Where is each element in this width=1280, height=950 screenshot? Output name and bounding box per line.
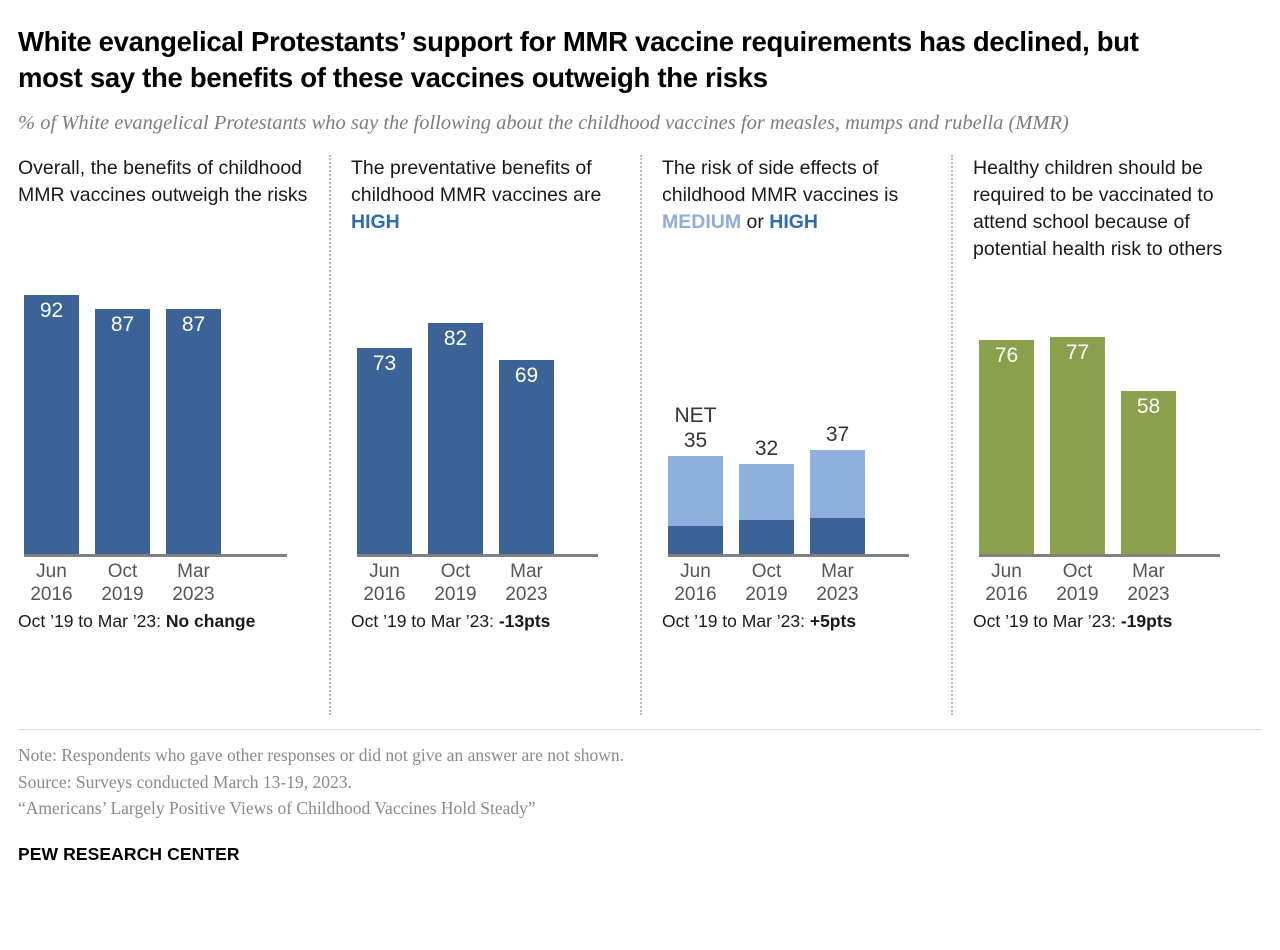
bar-value-label: 92	[24, 299, 79, 323]
bar-group[interactable]: 87	[166, 275, 221, 554]
note-line: Note: Respondents who gave other respons…	[18, 742, 1262, 769]
tick-label: Jun2016	[668, 557, 723, 605]
tick-year: 2016	[668, 584, 723, 606]
report-line: “Americans’ Largely Positive Views of Ch…	[18, 795, 1262, 822]
bar-value-label: 77	[1050, 341, 1105, 365]
tick-label: Oct2019	[428, 557, 483, 605]
tick-year: 2019	[739, 584, 794, 606]
panel-divider	[640, 155, 642, 715]
tick-year: 2016	[357, 584, 412, 606]
bar-group[interactable]: 37	[810, 275, 865, 554]
tick-month: Oct	[428, 561, 483, 583]
keyword-medium: MEDIUM	[662, 211, 741, 233]
tick-month: Mar	[1121, 561, 1176, 583]
bar-group[interactable]: 73	[357, 275, 412, 554]
plot-area: 928787Jun2016Oct2019Mar2023	[18, 275, 313, 605]
panel-heading: Overall, the benefits of childhood MMR v…	[18, 155, 313, 267]
pew-research-center-logo: PEW RESEARCH CENTER	[18, 844, 1262, 865]
bars-container: 928787	[24, 275, 287, 554]
change-prefix: Oct ’19 to Mar ’23:	[973, 611, 1121, 631]
bar-segment-medium[interactable]	[668, 456, 723, 527]
bar[interactable]: 58	[1121, 391, 1176, 555]
change-prefix: Oct ’19 to Mar ’23:	[18, 611, 166, 631]
bar-value-label: 37	[810, 423, 865, 450]
heading-text: or	[741, 211, 769, 233]
bars-container: 767758	[979, 275, 1220, 554]
panel-risk-side-effects-medium-or-high: The risk of side effects of childhood MM…	[640, 155, 951, 715]
tick-year: 2016	[979, 584, 1034, 606]
footer-divider	[18, 729, 1262, 730]
tick-label: Jun2016	[24, 557, 79, 605]
bar-segment-high[interactable]	[739, 520, 794, 554]
change-value: +5pts	[810, 611, 856, 631]
tick-year: 2023	[1121, 584, 1176, 606]
change-prefix: Oct ’19 to Mar ’23:	[662, 611, 810, 631]
bar[interactable]: 69	[499, 360, 554, 555]
tick-month: Jun	[668, 561, 723, 583]
plot-area: 767758Jun2016Oct2019Mar2023	[973, 275, 1246, 605]
change-summary: Oct ’19 to Mar ’23: -19pts	[973, 611, 1246, 632]
x-axis-ticks: Jun2016Oct2019Mar2023	[357, 557, 598, 605]
tick-month: Oct	[739, 561, 794, 583]
bar[interactable]: 87	[95, 309, 150, 554]
keyword-high: HIGH	[769, 211, 818, 233]
bar[interactable]: 82	[428, 323, 483, 554]
tick-month: Mar	[810, 561, 865, 583]
tick-month: Oct	[1050, 561, 1105, 583]
plot-area: 35NET3237Jun2016Oct2019Mar2023	[662, 275, 935, 605]
chart-subtitle: % of White evangelical Protestants who s…	[18, 110, 1233, 138]
tick-year: 2019	[428, 584, 483, 606]
tick-label: Mar2023	[1121, 557, 1176, 605]
panel-divider	[951, 155, 953, 715]
panel-divider	[329, 155, 331, 715]
heading-text: The preventative benefits of childhood M…	[351, 157, 601, 206]
heading-text: Healthy children should be required to b…	[973, 157, 1222, 260]
tick-label: Jun2016	[357, 557, 412, 605]
x-axis-ticks: Jun2016Oct2019Mar2023	[24, 557, 287, 605]
plot-area: 738269Jun2016Oct2019Mar2023	[351, 275, 624, 605]
panel-heading: The preventative benefits of childhood M…	[351, 155, 624, 267]
tick-month: Jun	[357, 561, 412, 583]
tick-label: Oct2019	[739, 557, 794, 605]
bar-value-label: 69	[499, 364, 554, 388]
bar-group[interactable]: 82	[428, 275, 483, 554]
chart-page: White evangelical Protestants’ support f…	[0, 0, 1280, 950]
bar-value-label: 32	[739, 437, 794, 464]
bar-segment-high[interactable]	[810, 518, 865, 555]
x-axis-ticks: Jun2016Oct2019Mar2023	[979, 557, 1220, 605]
bar[interactable]: 76	[979, 340, 1034, 554]
panel-heading: The risk of side effects of childhood MM…	[662, 155, 935, 267]
tick-month: Mar	[499, 561, 554, 583]
keyword-high: HIGH	[351, 211, 400, 233]
bar[interactable]: 92	[24, 295, 79, 554]
panel-container: Overall, the benefits of childhood MMR v…	[18, 155, 1262, 715]
tick-year: 2023	[499, 584, 554, 606]
bar-value-label: 73	[357, 352, 412, 376]
bar[interactable]: 73	[357, 348, 412, 554]
change-value: -19pts	[1121, 611, 1173, 631]
panel-preventative-benefits-high: The preventative benefits of childhood M…	[329, 155, 640, 715]
tick-year: 2023	[810, 584, 865, 606]
page-title: White evangelical Protestants’ support f…	[18, 0, 1168, 97]
bar[interactable]: 77	[1050, 337, 1105, 554]
tick-label: Oct2019	[1050, 557, 1105, 605]
bar-segment-medium[interactable]	[739, 464, 794, 520]
panel-required-vaccination-for-school: Healthy children should be required to b…	[951, 155, 1262, 715]
tick-year: 2023	[166, 584, 221, 606]
change-value: No change	[166, 611, 255, 631]
tick-label: Mar2023	[810, 557, 865, 605]
change-prefix: Oct ’19 to Mar ’23:	[351, 611, 499, 631]
bar-group[interactable]: 92	[24, 275, 79, 554]
footer-notes: Note: Respondents who gave other respons…	[18, 742, 1262, 822]
tick-label: Mar2023	[166, 557, 221, 605]
tick-month: Oct	[95, 561, 150, 583]
tick-month: Jun	[979, 561, 1034, 583]
change-value: -13pts	[499, 611, 551, 631]
bar-group[interactable]: 58	[1121, 275, 1176, 554]
change-summary: Oct ’19 to Mar ’23: +5pts	[662, 611, 935, 632]
tick-label: Oct2019	[95, 557, 150, 605]
bar-value-label: 58	[1121, 395, 1176, 419]
bars-container: 35NET3237	[668, 275, 909, 554]
bar-value-label: 82	[428, 327, 483, 351]
bar-value-label: 87	[95, 313, 150, 337]
bar[interactable]: 87	[166, 309, 221, 554]
heading-text: The risk of side effects of childhood MM…	[662, 157, 898, 206]
tick-month: Mar	[166, 561, 221, 583]
bar-group[interactable]: 69	[499, 275, 554, 554]
tick-label: Mar2023	[499, 557, 554, 605]
bar-value-label: 76	[979, 344, 1034, 368]
bar-group[interactable]: 35NET	[668, 275, 723, 554]
bar-group[interactable]: 77	[1050, 275, 1105, 554]
heading-text: Overall, the benefits of childhood MMR v…	[18, 157, 307, 206]
bar-value-label: 87	[166, 313, 221, 337]
source-line: Source: Surveys conducted March 13-19, 2…	[18, 769, 1262, 796]
change-summary: Oct ’19 to Mar ’23: -13pts	[351, 611, 624, 632]
tick-label: Jun2016	[979, 557, 1034, 605]
bar-group[interactable]: 87	[95, 275, 150, 554]
change-summary: Oct ’19 to Mar ’23: No change	[18, 611, 313, 632]
tick-year: 2016	[24, 584, 79, 606]
tick-year: 2019	[95, 584, 150, 606]
bars-container: 738269	[357, 275, 598, 554]
bar-segment-high[interactable]	[668, 526, 723, 554]
bar-segment-medium[interactable]	[810, 450, 865, 518]
x-axis-ticks: Jun2016Oct2019Mar2023	[668, 557, 909, 605]
tick-month: Jun	[24, 561, 79, 583]
net-label: NET	[668, 404, 723, 456]
panel-heading: Healthy children should be required to b…	[973, 155, 1246, 267]
tick-year: 2019	[1050, 584, 1105, 606]
panel-benefits-outweigh-risks: Overall, the benefits of childhood MMR v…	[18, 155, 329, 715]
bar-group[interactable]: 76	[979, 275, 1034, 554]
bar-group[interactable]: 32	[739, 275, 794, 554]
